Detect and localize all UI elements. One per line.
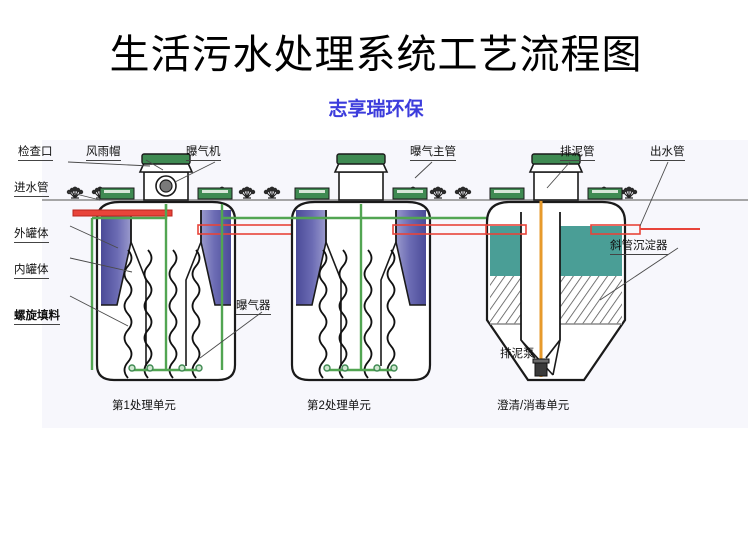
label-rain-cap: 风雨帽 xyxy=(86,146,121,161)
slide-root: 生活污水处理系统工艺流程图 志享瑞环保 xyxy=(0,0,752,557)
caption-unit-1: 第1处理单元 xyxy=(112,400,176,413)
label-sludge-discharge-pipe: 排泥管 xyxy=(560,146,595,161)
label-inspection-port: 检查口 xyxy=(18,146,53,161)
page-title: 生活污水处理系统工艺流程图 xyxy=(0,32,752,78)
label-sludge-pump: 排泥泵 xyxy=(500,348,535,361)
label-diffuser: 曝气器 xyxy=(236,300,271,315)
label-spiral-packing: 螺旋填料 xyxy=(14,310,60,325)
label-tube-settler: 斜管沉淀器 xyxy=(610,240,668,255)
label-aerator-blower: 曝气机 xyxy=(186,146,221,161)
label-inner-tank: 内罐体 xyxy=(14,264,49,279)
process-flow-diagram xyxy=(0,130,752,430)
caption-unit-3: 澄清/消毒单元 xyxy=(497,400,569,413)
page-subtitle: 志享瑞环保 xyxy=(0,98,752,122)
label-aeration-main-pipe: 曝气主管 xyxy=(410,146,456,161)
label-water-outlet-pipe: 出水管 xyxy=(650,146,685,161)
label-water-inlet-pipe: 进水管 xyxy=(14,182,49,197)
label-outer-tank: 外罐体 xyxy=(14,228,49,243)
caption-unit-2: 第2处理单元 xyxy=(307,400,371,413)
